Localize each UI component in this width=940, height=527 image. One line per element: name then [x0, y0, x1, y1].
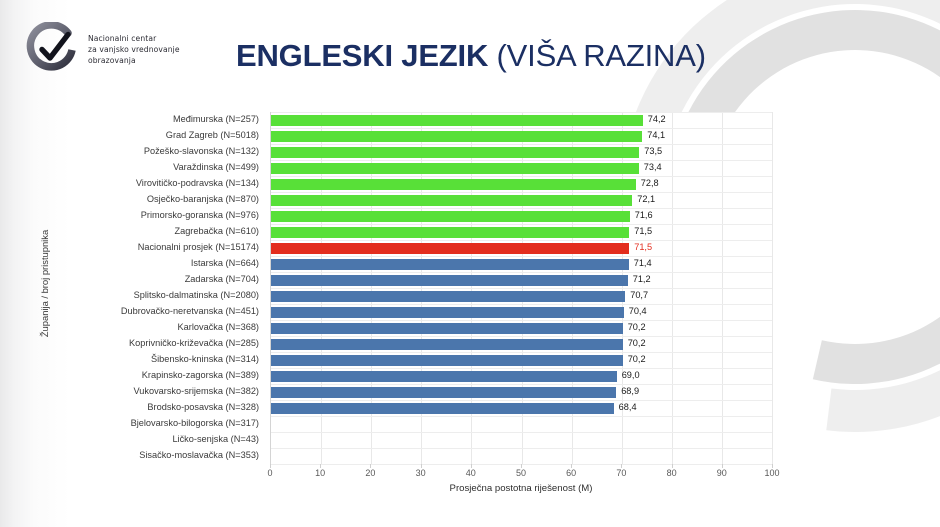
bar-blue[interactable] — [271, 275, 628, 286]
bar-value-label: 70,4 — [624, 307, 647, 316]
category-label: Grad Zagreb (N=5018) — [54, 128, 266, 144]
bar-value-label: 72,1 — [632, 195, 655, 204]
slide-canvas: Nacionalni centar za vanjsko vrednovanje… — [0, 0, 940, 527]
bar-row[interactable]: 71,6 — [271, 208, 772, 224]
x-tick-label: 50 — [516, 468, 526, 478]
x-tick-label: 80 — [667, 468, 677, 478]
category-label: Vukovarsko-srijemska (N=382) — [54, 384, 266, 400]
bar-row[interactable]: 73,4 — [271, 160, 772, 176]
y-axis-title: Županija / broj pristupnika — [36, 106, 54, 461]
bar-value-label: 68,9 — [616, 387, 639, 396]
bar-value-label: 74,2 — [643, 115, 666, 124]
organization-logo: Nacionalni centar za vanjsko vrednovanje… — [26, 22, 180, 76]
bar-value-label: 70,2 — [623, 323, 646, 332]
bar-row[interactable] — [271, 416, 772, 432]
checkmark-circle-icon — [26, 22, 80, 76]
bar-row[interactable]: 72,8 — [271, 176, 772, 192]
bar-row[interactable]: 70,2 — [271, 320, 772, 336]
bar-blue[interactable] — [271, 259, 629, 270]
category-label: Dubrovačko-neretvanska (N=451) — [54, 304, 266, 320]
category-label: Zadarska (N=704) — [54, 272, 266, 288]
gridline-vertical — [772, 112, 773, 464]
bar-blue[interactable] — [271, 307, 624, 318]
bar-value-label: 69,0 — [617, 371, 640, 380]
bar-red[interactable] — [271, 243, 629, 254]
y-axis-title-text: Županija / broj pristupnika — [40, 230, 51, 337]
plot-area: 74,274,173,573,472,872,171,671,571,571,4… — [270, 112, 772, 464]
bar-blue[interactable] — [271, 339, 623, 350]
bar-value-label: 72,8 — [636, 179, 659, 188]
category-label: Požeško-slavonska (N=132) — [54, 144, 266, 160]
bar-row[interactable]: 72,1 — [271, 192, 772, 208]
bar-row[interactable]: 74,2 — [271, 112, 772, 128]
category-label: Nacionalni prosjek (N=15174) — [54, 240, 266, 256]
category-label: Splitsko-dalmatinska (N=2080) — [54, 288, 266, 304]
bar-blue[interactable] — [271, 371, 617, 382]
x-tick-label: 10 — [315, 468, 325, 478]
category-axis-labels: Međimurska (N=257)Grad Zagreb (N=5018)Po… — [54, 112, 266, 464]
bar-value-label: 68,4 — [614, 403, 637, 412]
page-title: ENGLESKI JEZIK (VIŠA RAZINA) — [236, 38, 706, 74]
category-label: Osječko-baranjska (N=870) — [54, 192, 266, 208]
bar-blue[interactable] — [271, 387, 616, 398]
bar-value-label: 73,4 — [639, 163, 662, 172]
bar-green[interactable] — [271, 211, 630, 222]
bar-value-label: 74,1 — [642, 131, 665, 140]
bar-green[interactable] — [271, 147, 639, 158]
category-label: Karlovačka (N=368) — [54, 320, 266, 336]
bar-row[interactable]: 68,9 — [271, 384, 772, 400]
bar-green[interactable] — [271, 195, 632, 206]
category-label: Primorsko-goranska (N=976) — [54, 208, 266, 224]
bar-row[interactable]: 74,1 — [271, 128, 772, 144]
logo-line-3: obrazovanja — [88, 55, 180, 66]
category-label: Međimurska (N=257) — [54, 112, 266, 128]
bar-green[interactable] — [271, 115, 643, 126]
x-tick-label: 70 — [616, 468, 626, 478]
bar-blue[interactable] — [271, 291, 625, 302]
bar-row[interactable]: 71,5 — [271, 224, 772, 240]
bar-value-label: 73,5 — [639, 147, 662, 156]
category-label: Sisačko-moslavačka (N=353) — [54, 448, 266, 464]
bar-green[interactable] — [271, 131, 642, 142]
bar-value-label: 71,2 — [628, 275, 651, 284]
bar-row[interactable]: 73,5 — [271, 144, 772, 160]
bar-row[interactable]: 69,0 — [271, 368, 772, 384]
category-label: Šibensko-kninska (N=314) — [54, 352, 266, 368]
category-label: Istarska (N=664) — [54, 256, 266, 272]
x-tick-label: 100 — [764, 468, 779, 478]
bar-row[interactable]: 70,2 — [271, 352, 772, 368]
bar-row[interactable]: 71,5 — [271, 240, 772, 256]
bar-chart: Županija / broj pristupnika Međimurska (… — [28, 106, 818, 506]
bar-value-label: 71,5 — [629, 227, 652, 236]
bar-row[interactable]: 71,2 — [271, 272, 772, 288]
bar-blue[interactable] — [271, 323, 623, 334]
category-label: Koprivničko-križevačka (N=285) — [54, 336, 266, 352]
bar-value-label: 70,2 — [623, 339, 646, 348]
logo-text-block: Nacionalni centar za vanjsko vrednovanje… — [88, 33, 180, 66]
bar-blue[interactable] — [271, 355, 623, 366]
logo-line-2: za vanjsko vrednovanje — [88, 44, 180, 55]
bar-row[interactable]: 71,4 — [271, 256, 772, 272]
x-tick-label: 20 — [365, 468, 375, 478]
x-tick-label: 40 — [466, 468, 476, 478]
category-label: Virovitičko-podravska (N=134) — [54, 176, 266, 192]
page-title-bold: ENGLESKI JEZIK — [236, 38, 488, 73]
x-axis-ticks: 0102030405060708090100 — [270, 464, 772, 480]
category-label: Krapinsko-zagorska (N=389) — [54, 368, 266, 384]
category-label: Varaždinska (N=499) — [54, 160, 266, 176]
x-tick-label: 90 — [717, 468, 727, 478]
x-tick-label: 60 — [566, 468, 576, 478]
bar-row[interactable] — [271, 432, 772, 448]
bar-value-label: 70,7 — [625, 291, 648, 300]
category-label: Brodsko-posavska (N=328) — [54, 400, 266, 416]
bar-value-label: 71,4 — [629, 259, 652, 268]
bar-green[interactable] — [271, 163, 639, 174]
logo-line-1: Nacionalni centar — [88, 33, 180, 44]
x-axis-title: Prosječna postotna riješenost (M) — [270, 483, 772, 494]
x-tick-label: 30 — [416, 468, 426, 478]
bar-green[interactable] — [271, 227, 629, 238]
bar-value-label: 71,6 — [630, 211, 653, 220]
category-label: Ličko-senjska (N=43) — [54, 432, 266, 448]
bar-row[interactable]: 70,4 — [271, 304, 772, 320]
bar-row[interactable]: 70,2 — [271, 336, 772, 352]
x-tick-label: 0 — [267, 468, 272, 478]
page-title-regular: (VIŠA RAZINA) — [488, 38, 706, 73]
bar-value-label: 71,5 — [629, 243, 652, 252]
bar-value-label: 70,2 — [623, 355, 646, 364]
category-label: Zagrebačka (N=610) — [54, 224, 266, 240]
bar-row[interactable] — [271, 448, 772, 464]
bar-row[interactable]: 68,4 — [271, 400, 772, 416]
bar-rows: 74,274,173,573,472,872,171,671,571,571,4… — [271, 112, 772, 464]
bar-blue[interactable] — [271, 403, 614, 414]
bar-green[interactable] — [271, 179, 636, 190]
bar-row[interactable]: 70,7 — [271, 288, 772, 304]
category-label: Bjelovarsko-bilogorska (N=317) — [54, 416, 266, 432]
